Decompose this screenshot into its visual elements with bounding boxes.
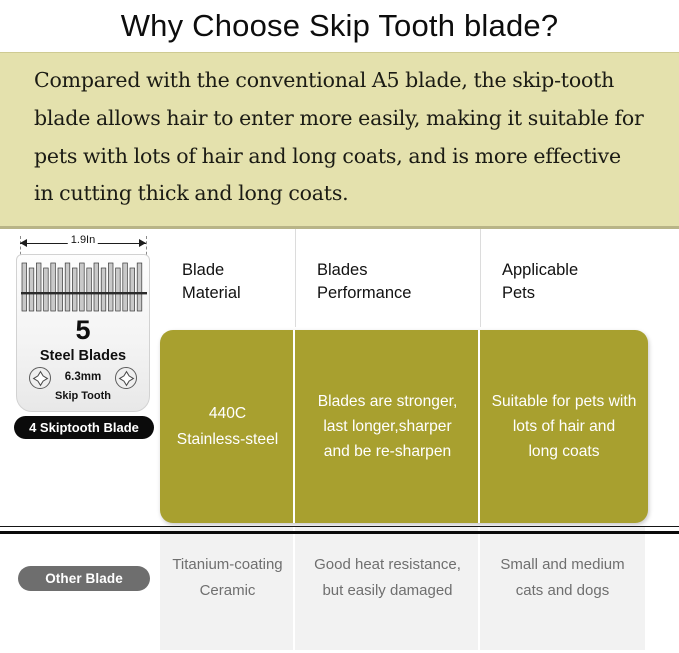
blade-steel-label: Steel Blades bbox=[17, 348, 149, 364]
skiptooth-blade-badge: 4 Skiptooth Blade bbox=[14, 416, 154, 439]
cell-text: Titanium-coating Ceramic bbox=[172, 552, 282, 605]
cell-blade-material: Titanium-coating Ceramic bbox=[160, 526, 295, 650]
cell-text: 440C Stainless-steel bbox=[177, 401, 278, 452]
column-header-label: Blades Performance bbox=[317, 259, 480, 306]
page-title: Why Choose Skip Tooth blade? bbox=[121, 8, 559, 44]
skiptooth-blade-product-image: 1.9In bbox=[6, 234, 160, 444]
column-header-label: Applicable Pets bbox=[502, 259, 648, 306]
blade-size-number: 5 bbox=[17, 317, 149, 344]
column-header-label: Blade Material bbox=[182, 259, 295, 306]
cell-applicable-pets: Small and medium cats and dogs bbox=[480, 526, 645, 650]
blade-body: 5 Steel Blades 6.3mm Skip Tooth bbox=[16, 254, 150, 412]
cell-blades-performance: Good heat resistance, but easily damaged bbox=[295, 526, 480, 650]
page-title-bar: Why Choose Skip Tooth blade? bbox=[0, 0, 679, 52]
dimension-arrow-left-icon bbox=[20, 239, 27, 247]
cell-text: Blades are stronger, last longer,sharper… bbox=[318, 389, 458, 465]
blade-teeth-icon bbox=[21, 261, 147, 315]
row-separator bbox=[0, 531, 679, 534]
other-blade-row: Titanium-coating Ceramic Good heat resis… bbox=[160, 526, 645, 650]
dimension-label: 1.9In bbox=[68, 234, 98, 246]
row-separator-thin bbox=[0, 526, 679, 527]
cell-blades-performance: Blades are stronger, last longer,sharper… bbox=[295, 330, 480, 523]
column-header-applicable-pets: Applicable Pets bbox=[480, 229, 648, 327]
cell-text: Suitable for pets with lots of hair and … bbox=[492, 389, 637, 465]
comparison-table: Blade Material Blades Performance Applic… bbox=[0, 229, 679, 650]
cell-applicable-pets: Suitable for pets with lots of hair and … bbox=[480, 330, 648, 523]
skiptooth-blade-row: 440C Stainless-steel Blades are stronger… bbox=[160, 330, 648, 523]
description-banner: Compared with the conventional A5 blade,… bbox=[0, 52, 679, 229]
skiptooth-blade-badge-label: 4 Skiptooth Blade bbox=[29, 420, 139, 435]
blade-type-label: Skip Tooth bbox=[17, 390, 149, 402]
blade-dimension-annotation: 1.9In bbox=[6, 234, 160, 254]
description-text: Compared with the conventional A5 blade,… bbox=[34, 62, 645, 214]
cell-text: Good heat resistance, but easily damaged bbox=[314, 552, 461, 605]
dimension-arrow-right-icon bbox=[139, 239, 146, 247]
blade-cut-size: 6.3mm bbox=[17, 371, 149, 383]
cell-blade-material: 440C Stainless-steel bbox=[160, 330, 295, 523]
column-header-blades-performance: Blades Performance bbox=[295, 229, 480, 327]
column-header-blade-material: Blade Material bbox=[160, 229, 295, 327]
cell-text: Small and medium cats and dogs bbox=[500, 552, 624, 605]
other-blade-badge: Other Blade bbox=[18, 566, 150, 591]
other-blade-badge-label: Other Blade bbox=[45, 571, 123, 586]
